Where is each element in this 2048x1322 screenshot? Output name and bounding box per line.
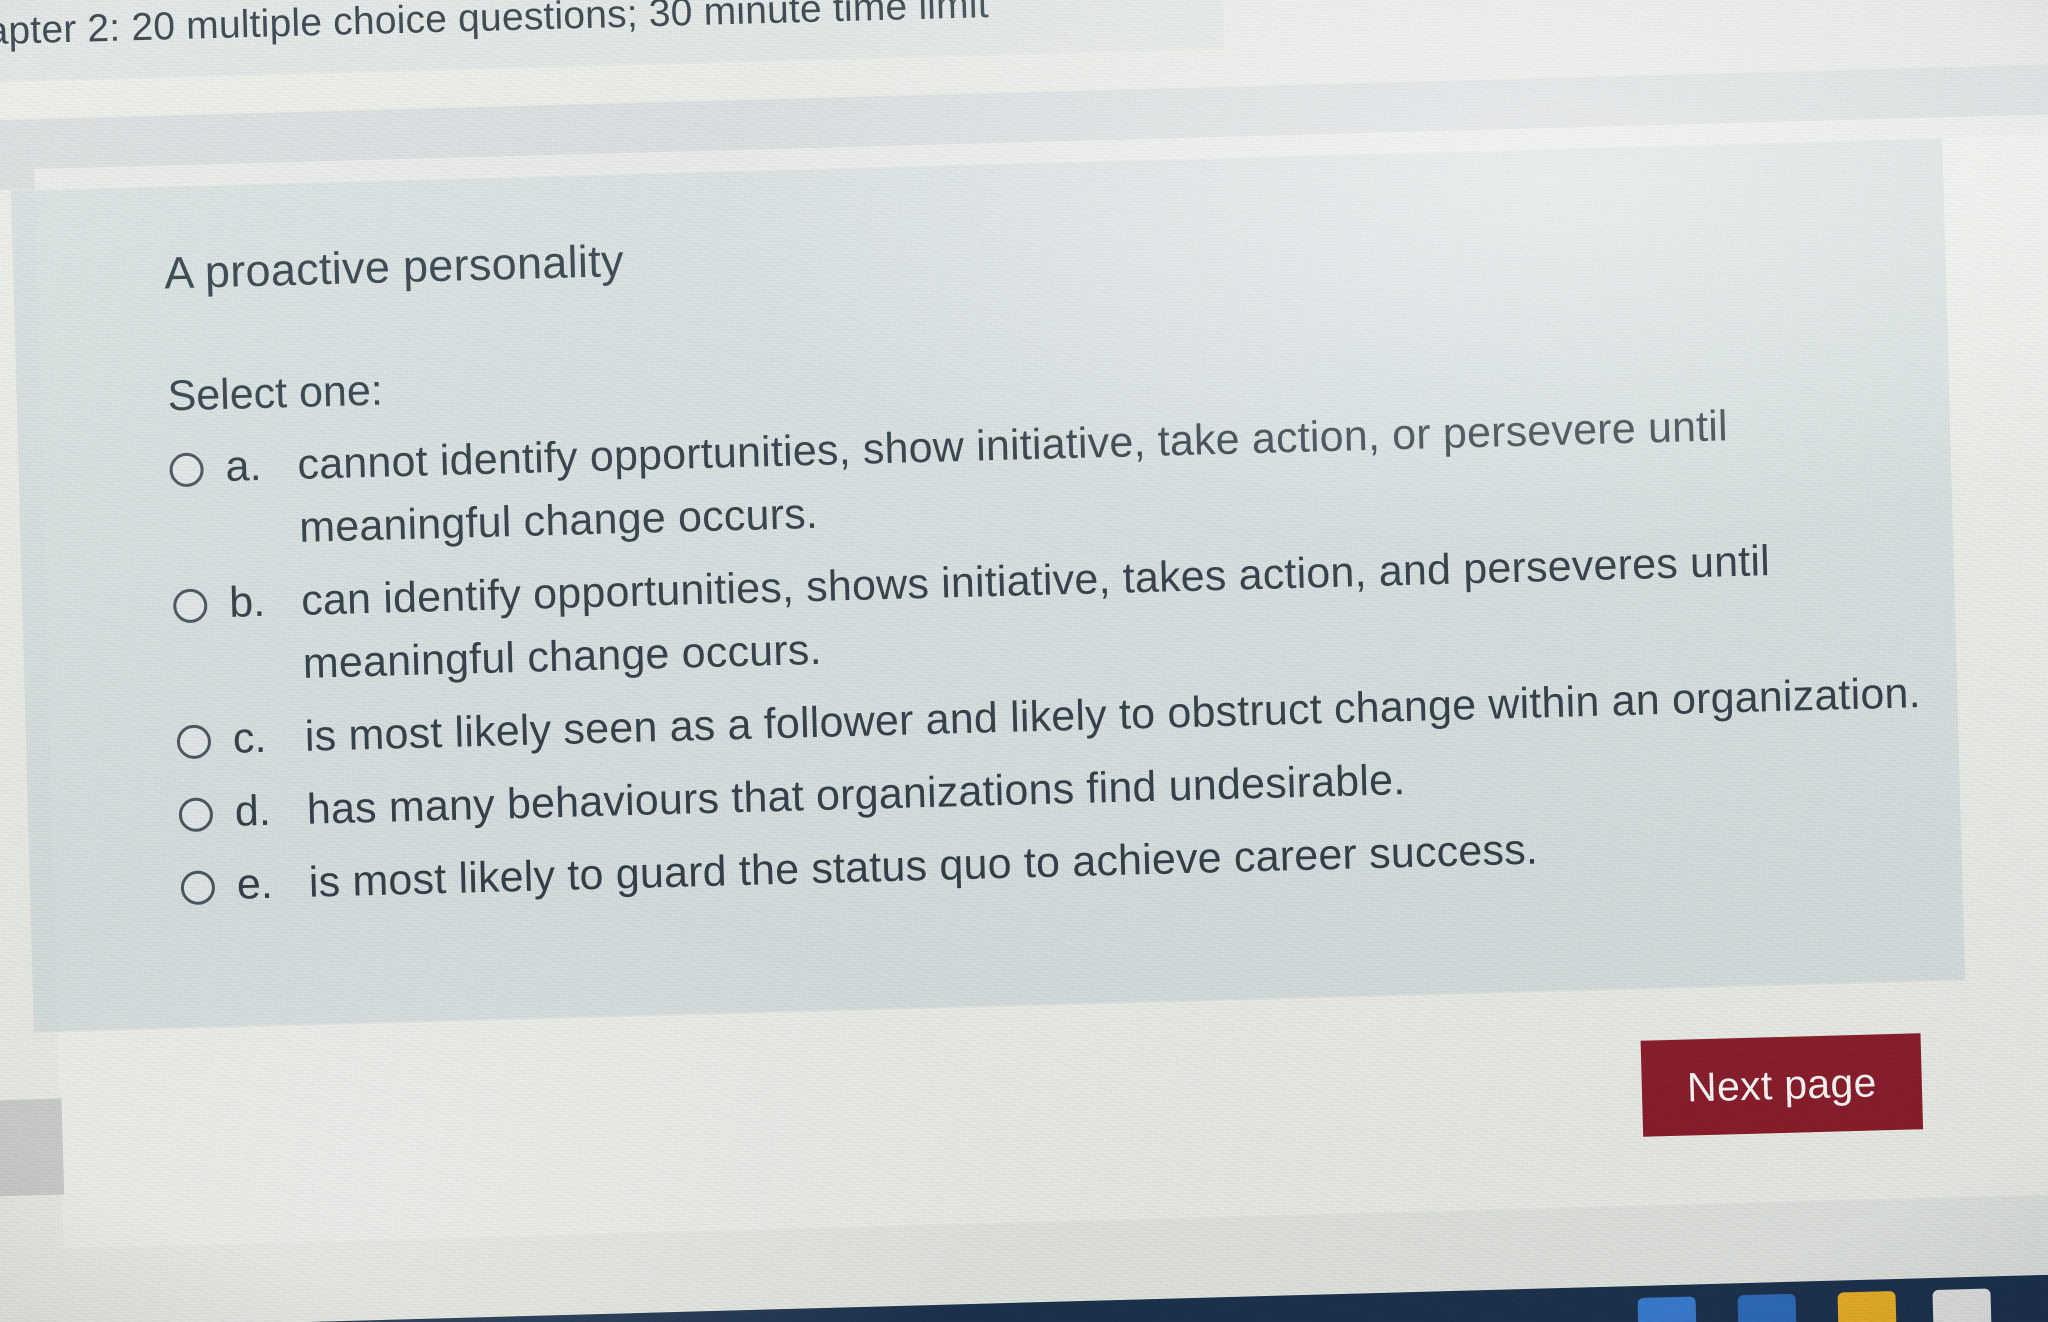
option-letter-d: d. [234, 779, 308, 844]
previous-page-button[interactable] [0, 1099, 64, 1199]
option-letter-e: e. [236, 852, 310, 917]
question-stem: A proactive personality [164, 235, 625, 299]
taskbar [0, 1272, 2048, 1322]
radio-button-a[interactable] [169, 452, 204, 487]
taskbar-document-icon[interactable] [1932, 1288, 1991, 1322]
select-one-label: Select one: [167, 367, 383, 422]
option-letter-b: b. [228, 570, 302, 635]
radio-button-c[interactable] [177, 724, 212, 759]
next-page-button[interactable]: Next page [1641, 1033, 1923, 1137]
monitor-screen: hapter 2: 20 multiple choice questions; … [0, 0, 2048, 1322]
radio-button-e[interactable] [180, 870, 215, 905]
answer-options-list: a. cannot identify opportunities, show i… [169, 390, 1942, 928]
option-letter-c: c. [232, 706, 306, 771]
taskbar-app-icon[interactable] [1737, 1294, 1796, 1322]
radio-button-d[interactable] [178, 797, 213, 832]
screenshot-root: hapter 2: 20 multiple choice questions; … [0, 0, 2048, 1322]
browser-viewport: hapter 2: 20 multiple choice questions; … [0, 0, 2048, 1322]
option-letter-a: a. [225, 434, 299, 499]
taskbar-browser-icon[interactable] [1638, 1296, 1697, 1322]
taskbar-folder-icon[interactable] [1837, 1291, 1896, 1322]
radio-button-b[interactable] [173, 588, 208, 623]
question-card: A proactive personality Select one: a. c… [12, 139, 1964, 1031]
